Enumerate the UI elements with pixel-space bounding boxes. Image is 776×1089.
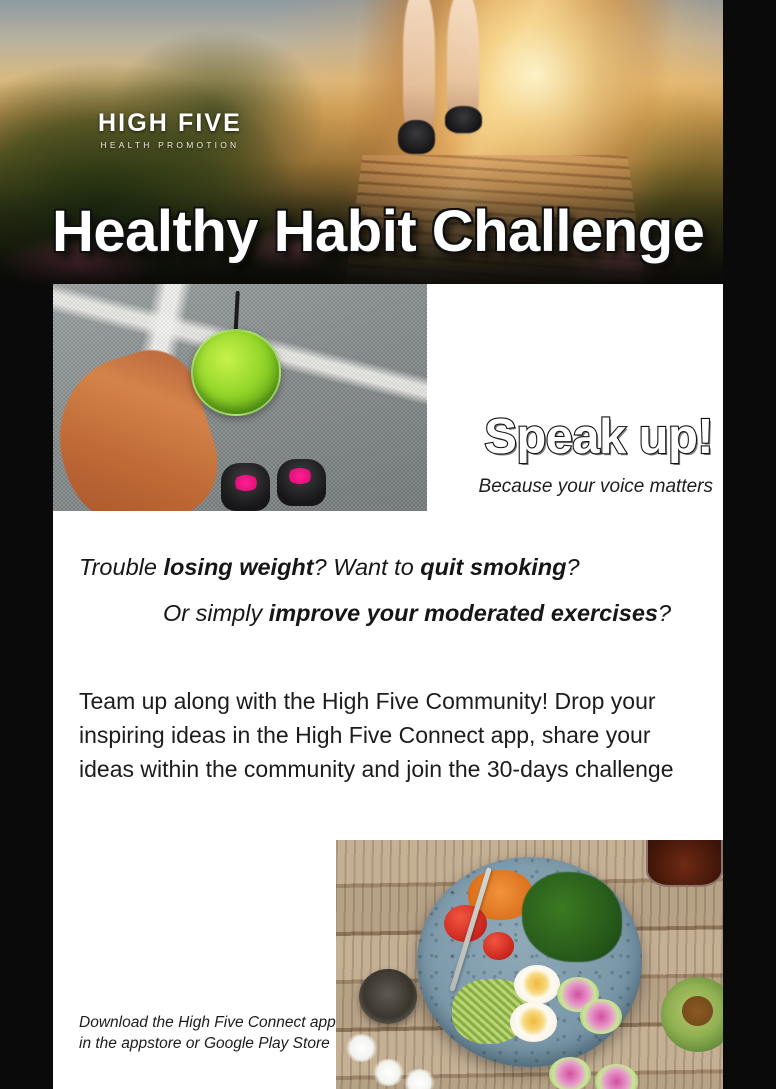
page-title: Healthy Habit Challenge — [52, 203, 704, 261]
speak-up-block: Speak up! Because your voice matters — [441, 413, 713, 498]
pink-lace-right — [287, 468, 313, 484]
question-1-bold-b: quit smoking — [420, 554, 566, 580]
smoothie-photo — [53, 284, 427, 511]
blossom-b — [371, 1059, 406, 1086]
question-2-bold-a: improve your moderated exercises — [269, 600, 658, 626]
blossom-c — [402, 1069, 437, 1089]
question-1-bold-a: losing weight — [163, 554, 313, 580]
hero-runner-figure — [383, 0, 506, 166]
runner-shoe-left — [398, 120, 435, 154]
avocado-half — [661, 977, 723, 1052]
question-2-text-a: Or simply — [163, 600, 269, 626]
speak-up-heading: Speak up! — [441, 413, 713, 462]
tea-glass — [646, 840, 723, 887]
runner-shoe-right — [445, 106, 482, 133]
radish-slice-c — [549, 1057, 592, 1089]
download-note: Download the High Five Connect app in th… — [79, 1012, 341, 1054]
brand-logo-tagline: HEALTH PROMOTION — [98, 140, 242, 150]
question-2-text-b: ? — [658, 600, 671, 626]
speak-up-subtitle: Because your voice matters — [441, 476, 713, 498]
content-panel: Speak up! Because your voice matters Tro… — [53, 284, 723, 1089]
question-line-1: Trouble losing weight? Want to quit smok… — [79, 554, 580, 581]
question-1-text-a: Trouble — [79, 554, 163, 580]
green-smoothie-cup — [191, 329, 281, 415]
brand-logo-name: HIGH FIVE — [98, 111, 242, 136]
pink-lace-left — [233, 475, 259, 491]
kale-greens — [522, 872, 623, 962]
question-1-text-b: ? Want to — [314, 554, 421, 580]
tomato-b — [483, 932, 514, 959]
boiled-egg-b — [510, 1002, 556, 1042]
question-1-text-c: ? — [567, 554, 580, 580]
salad-photo — [336, 840, 723, 1089]
blossom-a — [344, 1034, 379, 1061]
body-paragraph: Team up along with the High Five Communi… — [79, 684, 679, 786]
question-line-2: Or simply improve your moderated exercis… — [163, 600, 671, 627]
poster-root: HIGH FIVE HEALTH PROMOTION Healthy Habit… — [0, 0, 776, 1089]
brand-logo: HIGH FIVE HEALTH PROMOTION — [98, 111, 242, 150]
